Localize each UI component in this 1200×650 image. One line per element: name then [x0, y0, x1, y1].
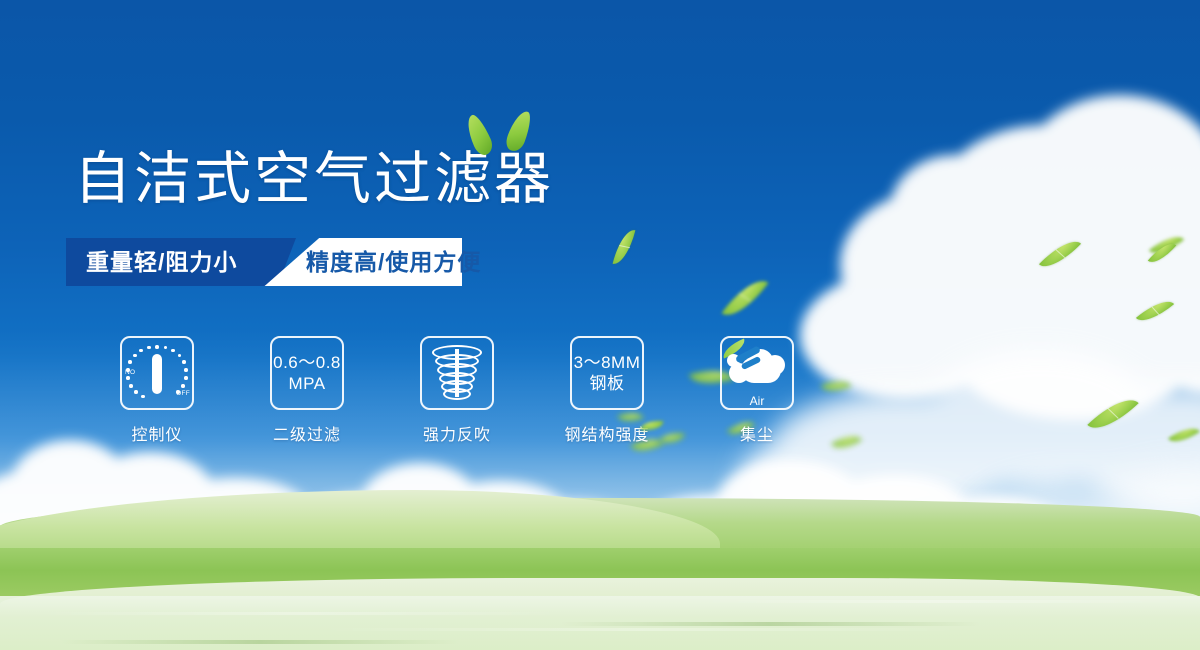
feature-label: 强力反吹: [423, 421, 491, 445]
steel-value-line2: 钢板: [574, 373, 641, 394]
feature-item-steel-strength[interactable]: 3～8MM 钢板 钢结构强度: [532, 336, 682, 445]
gauge-needle: [152, 354, 162, 394]
subtitle-left-text: 重量轻/阻力小: [86, 238, 237, 286]
feature-icon-box: 3～8MM 钢板: [570, 336, 644, 410]
gauge-label-no: NO: [125, 369, 135, 376]
steel-plate-value-icon: 3～8MM 钢板: [574, 352, 641, 394]
pressure-value-line1: 0.6～0.8: [273, 352, 341, 373]
feature-icon-list: NO OFF 控制仪 0.6～0.8 MPA 二级过滤: [82, 336, 832, 445]
feature-icon-box: 0.6～0.8 MPA: [270, 336, 344, 410]
steel-value-line1: 3～8MM: [574, 352, 641, 373]
sprout-leaf-right: [503, 108, 534, 154]
feature-icon-box: Air: [720, 336, 794, 410]
feature-item-two-stage-filter[interactable]: 0.6～0.8 MPA 二级过滤: [232, 336, 382, 445]
gauge-label-off: OFF: [176, 390, 190, 397]
air-label: Air: [727, 394, 787, 408]
subtitle-right-text: 精度高/使用方便: [306, 238, 481, 286]
feature-label: 二级过滤: [273, 421, 341, 445]
grass-streak: [700, 600, 1180, 603]
sprout-leaves-icon: [468, 108, 544, 164]
grass-streak-dark: [560, 622, 980, 626]
feature-icon-box: [420, 336, 494, 410]
feature-icon-box: NO OFF: [120, 336, 194, 410]
sprout-leaf-left: [462, 112, 496, 158]
blowback-coil-icon: [431, 345, 483, 401]
feature-label: 集尘: [740, 421, 774, 445]
feature-label: 控制仪: [131, 421, 182, 445]
pressure-value-icon: 0.6～0.8 MPA: [273, 352, 341, 394]
feature-label: 钢结构强度: [564, 421, 649, 445]
grass-streak: [320, 628, 960, 631]
product-hero-banner: 自洁式空气过滤器 重量轻/阻力小 精度高/使用方便: [0, 0, 1200, 650]
grass-streak: [40, 612, 560, 615]
feature-item-dust-collection[interactable]: Air 集尘: [682, 336, 832, 445]
feature-item-blowback[interactable]: 强力反吹: [382, 336, 532, 445]
feature-item-controller[interactable]: NO OFF 控制仪: [82, 336, 232, 445]
subtitle-banner: 重量轻/阻力小 精度高/使用方便: [66, 238, 462, 286]
air-cloud-icon: Air: [727, 347, 787, 399]
grass-streak-dark: [60, 640, 460, 644]
pressure-value-line2: MPA: [273, 373, 341, 394]
gauge-dial-icon: NO OFF: [126, 343, 188, 403]
